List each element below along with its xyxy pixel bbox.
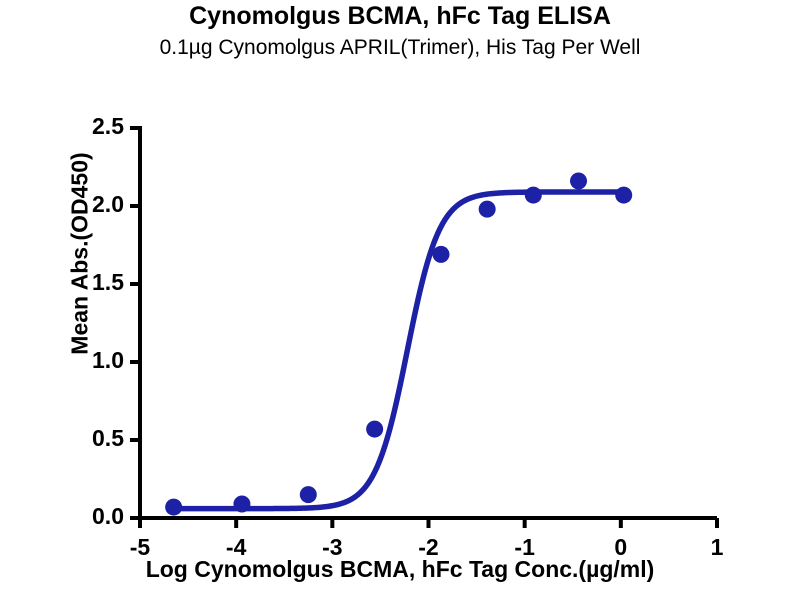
data-point <box>615 187 632 204</box>
fit-curve <box>174 192 624 509</box>
axes <box>130 126 717 528</box>
data-point <box>570 173 587 190</box>
series-data-points <box>165 173 632 516</box>
data-point <box>525 187 542 204</box>
plot-area <box>0 0 800 600</box>
data-point <box>300 486 317 503</box>
data-point <box>479 201 496 218</box>
data-point <box>366 421 383 438</box>
series-fit-curve <box>174 192 624 509</box>
data-point <box>165 499 182 516</box>
chart-figure: Cynomolgus BCMA, hFc Tag ELISA 0.1µg Cyn… <box>0 0 800 600</box>
data-point <box>233 495 250 512</box>
data-point <box>433 246 450 263</box>
